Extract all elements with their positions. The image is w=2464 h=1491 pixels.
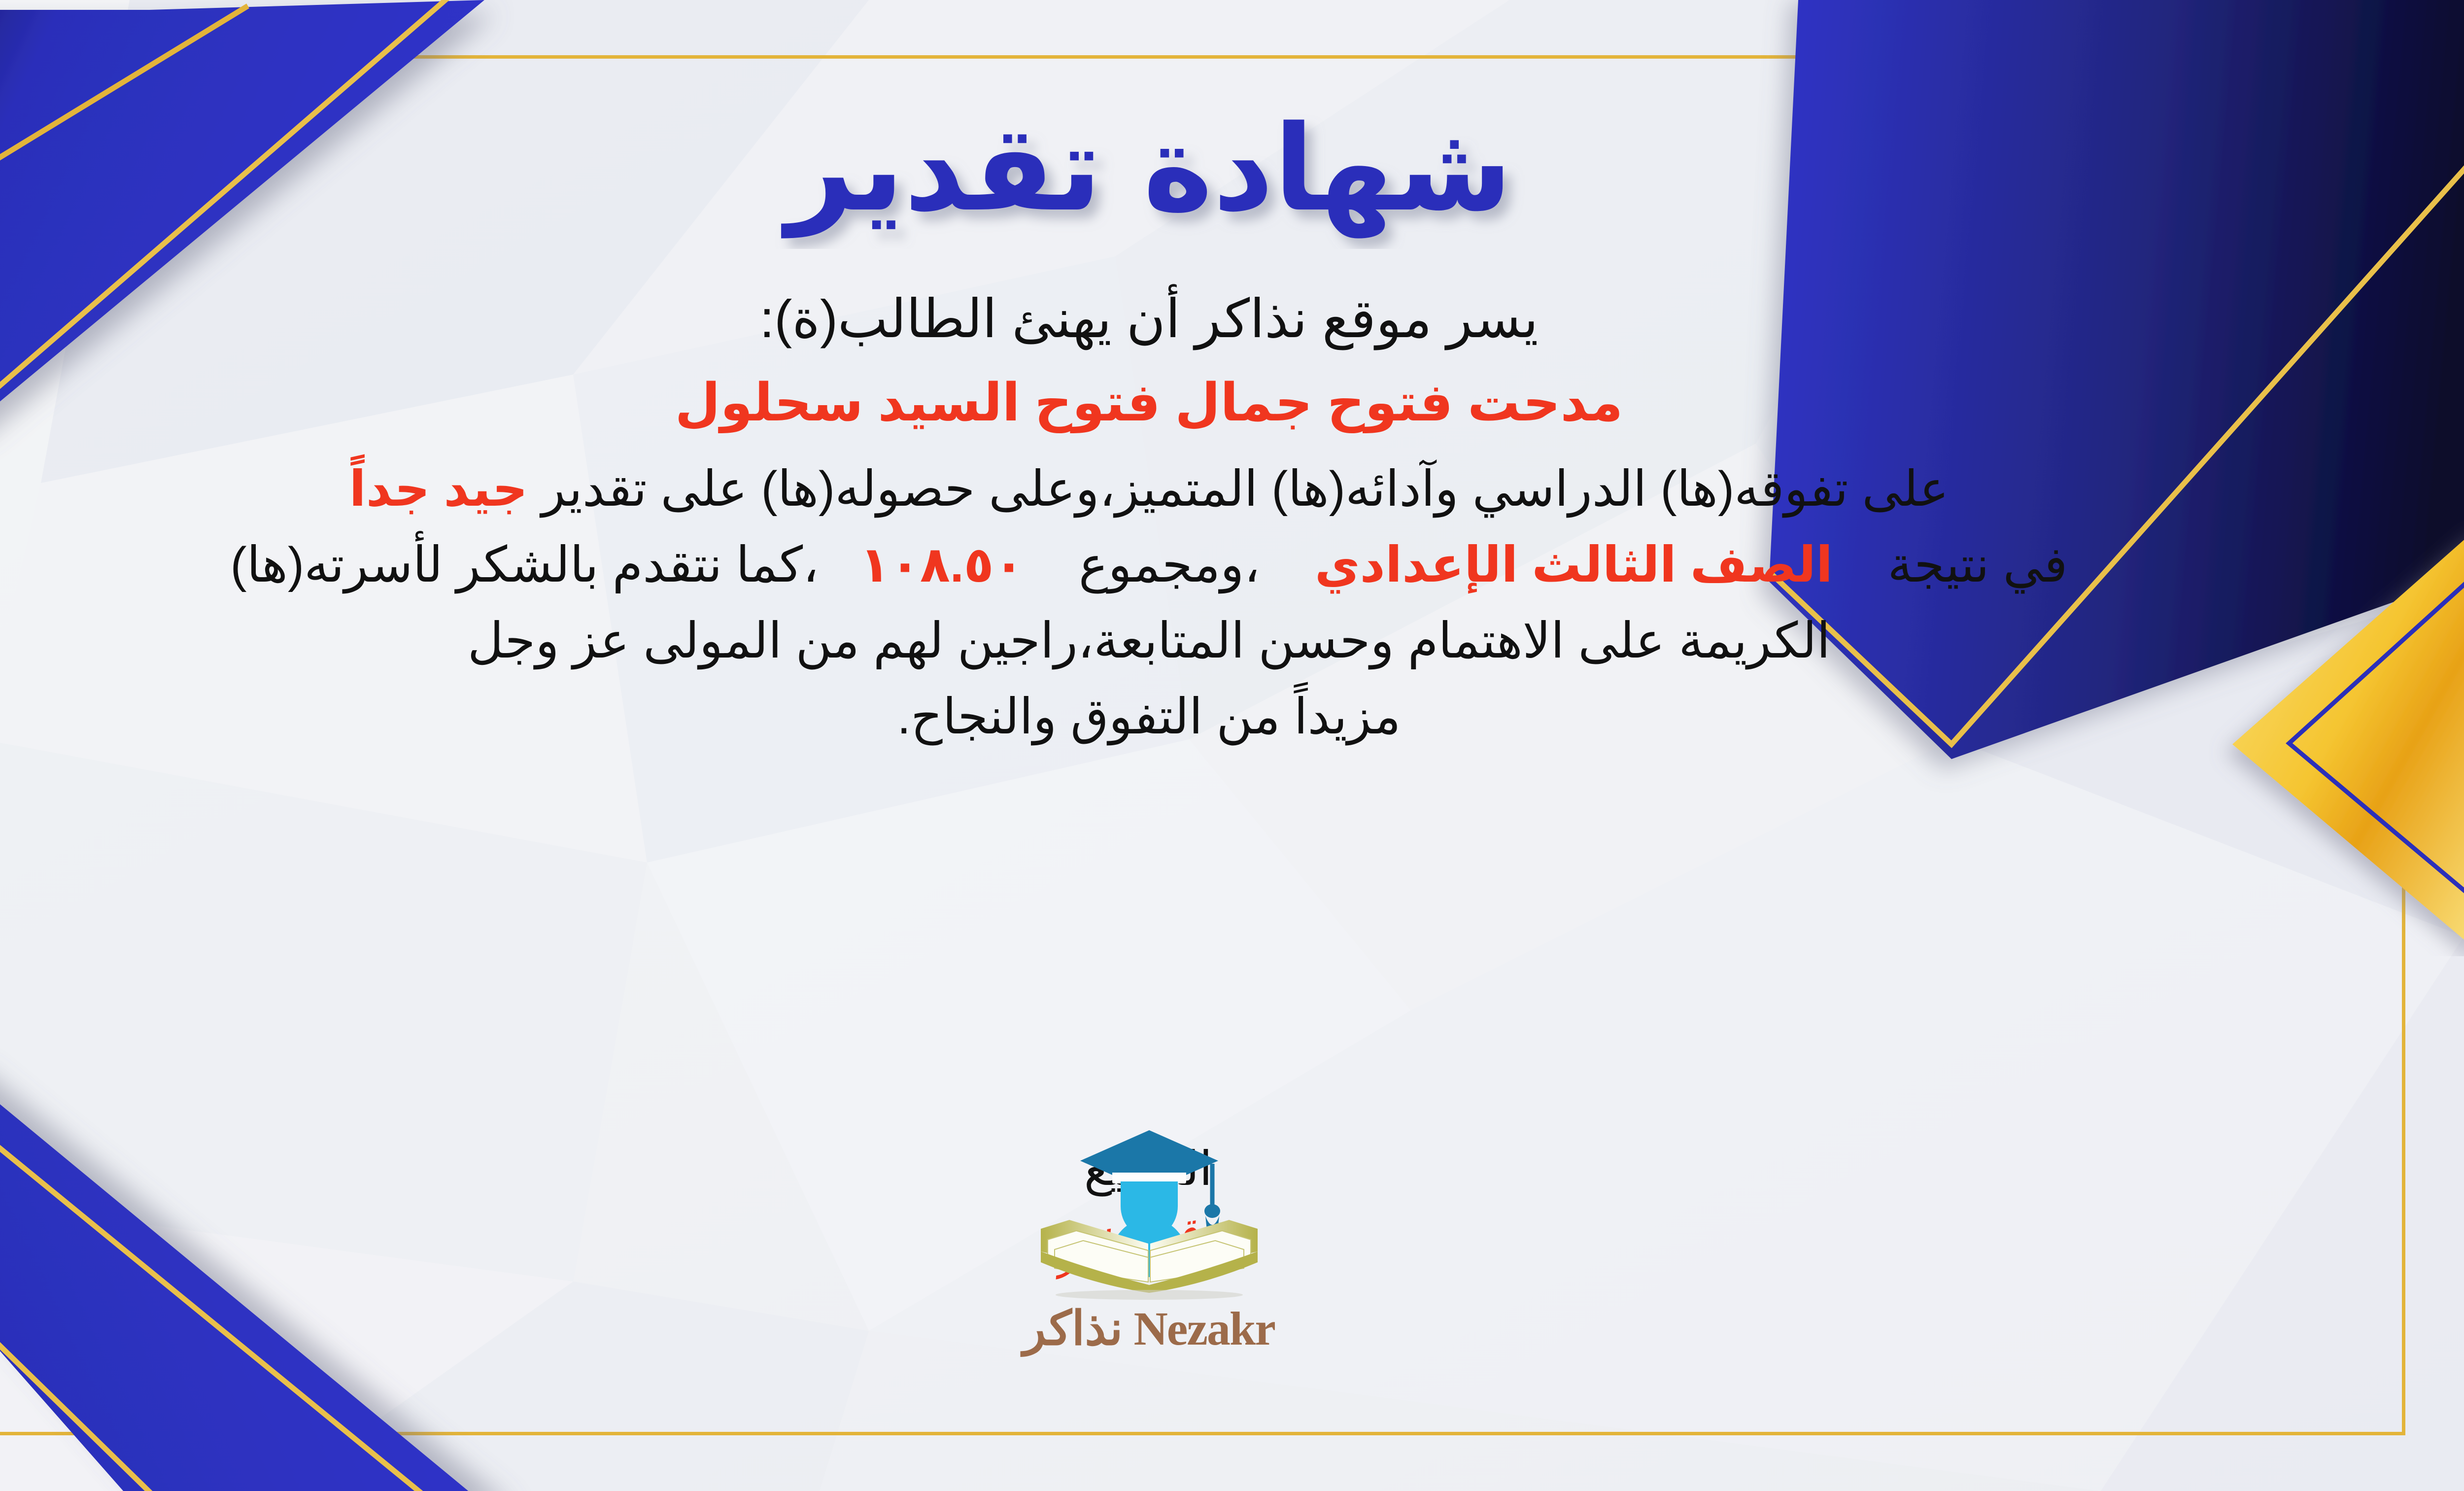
certificate-title: شهادة تقدير [0, 79, 2395, 256]
graduate-book-logo-icon [1011, 1121, 1287, 1304]
result-line: في نتيجة الصف الثالث الإعدادي ،ومجموع ١٠… [0, 530, 2395, 600]
family-thanks-line: الكريمة على الاهتمام وحسن المتابعة،راجين… [0, 606, 2395, 676]
total-score-value: ١٠٨.٥٠ [860, 537, 1024, 592]
title-calligraphy-icon: شهادة تقدير [558, 86, 1741, 249]
achievement-line: على تفوقه(ها) الدراسي وآدائه(ها) المتميز… [0, 454, 2395, 524]
achievement-text: على تفوقه(ها) الدراسي وآدائه(ها) المتميز… [542, 461, 1949, 517]
cap-band-blue [1112, 1160, 1186, 1173]
certificate-content: شهادة تقدير يسر موقع نذاكر أن يهنئ الطال… [0, 64, 2395, 758]
grade-value: جيد جداً [349, 461, 528, 517]
result-prefix: في نتيجة [1887, 537, 2067, 592]
cap-tassel-knot [1204, 1204, 1220, 1218]
certificate-body: يسر موقع نذاكر أن يهنئ الطالب(ة): مدحت ف… [0, 281, 2395, 752]
brand-logo-text: Nezakr نذاكر [967, 1301, 1332, 1356]
closing-wish-line: مزيداً من التفوق والنجاح. [0, 682, 2395, 752]
certificate-page: شهادة تقدير يسر موقع نذاكر أن يهنئ الطال… [0, 0, 2464, 1491]
student-name: مدحت فتوح جمال فتوح السيد سحلول [0, 369, 2395, 437]
certificate-footer: التوقيع موقع نذاكر [0, 1111, 2464, 1417]
congratulation-intro-line: يسر موقع نذاكر أن يهنئ الطالب(ة): [0, 281, 2395, 356]
brand-logo: Nezakr نذاكر [967, 1121, 1332, 1356]
thanks-text: ،كما نتقدم بالشكر لأسرته(ها) [230, 537, 819, 592]
total-prefix: ،ومجموع [1079, 537, 1260, 592]
title-text: شهادة تقدير [781, 100, 1512, 239]
class-level-value: الصف الثالث الإعدادي [1315, 537, 1833, 592]
logo-shadow [1056, 1290, 1243, 1300]
